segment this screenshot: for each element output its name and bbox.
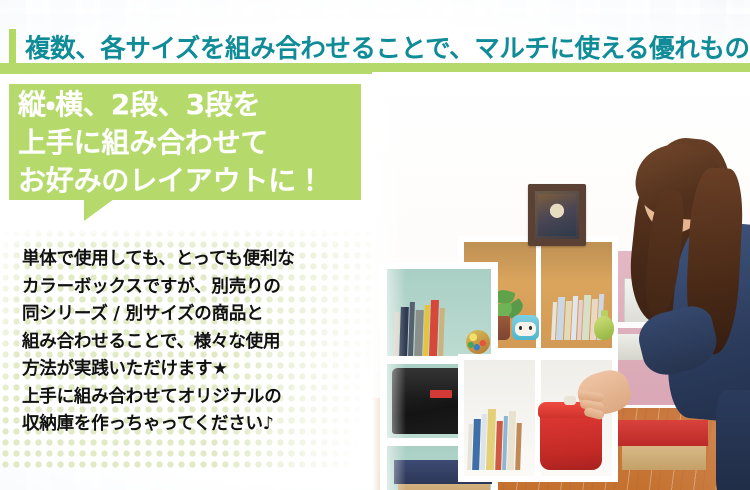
body-line: 同シリーズ / 別サイズの商品と xyxy=(22,301,372,329)
body-line: 方法が実践いただけます★ xyxy=(22,356,372,384)
promo-banner: 複数、各サイズを組み合わせることで、マルチに使える優れもの！ 縦・横、2段、3段… xyxy=(0,0,750,490)
callout-line: 縦・横、2段、3段を xyxy=(18,88,261,121)
mosaic-ball-ornament xyxy=(466,330,490,354)
cat-figurine-eye xyxy=(519,326,522,330)
body-copy: 単体で使用しても、とっても便利な カラーボックスですが、別売りの 同シリーズ /… xyxy=(22,246,372,439)
body-line: 上手に組み合わせてオリジナルの xyxy=(22,384,372,412)
callout-bubble-tail xyxy=(84,199,114,221)
body-line: 収納庫を作っちゃってください♪ xyxy=(22,411,372,439)
cat-figurine-face xyxy=(515,322,536,336)
black-bag-logo xyxy=(430,390,452,398)
body-line: 単体で使用しても、とっても便利な xyxy=(22,246,372,274)
red-storage-box-lid xyxy=(618,420,708,446)
red-container-knob xyxy=(564,396,576,405)
page-title: 複数、各サイズを組み合わせることで、マルチに使える優れもの！ xyxy=(25,28,750,65)
picture-frame-photo xyxy=(538,194,576,236)
product-photo xyxy=(372,72,750,490)
body-line: カラーボックスですが、別売りの xyxy=(22,274,372,302)
callout-line: お好みのレイアウトに！ xyxy=(18,164,324,197)
green-glass-vase xyxy=(594,316,614,340)
woman-leg xyxy=(716,390,750,490)
callout-line: 上手に組み合わせて xyxy=(18,126,268,159)
small-book-row xyxy=(468,408,522,470)
headline-row: 複数、各サイズを組み合わせることで、マルチに使える優れもの！ xyxy=(0,26,750,66)
photo-left-fade xyxy=(372,72,406,490)
book-spine xyxy=(438,308,445,356)
cat-figurine-eye xyxy=(529,326,532,330)
red-storage-box-base xyxy=(622,444,706,470)
book-spine xyxy=(515,423,522,470)
headline-accent-bar xyxy=(9,29,16,63)
body-line: 組み合わせることで、様々な使用 xyxy=(22,329,372,357)
callout-text: 縦・横、2段、3段を 上手に組み合わせて お好みのレイアウトに！ xyxy=(18,86,358,200)
photo-top-fade xyxy=(372,72,750,126)
